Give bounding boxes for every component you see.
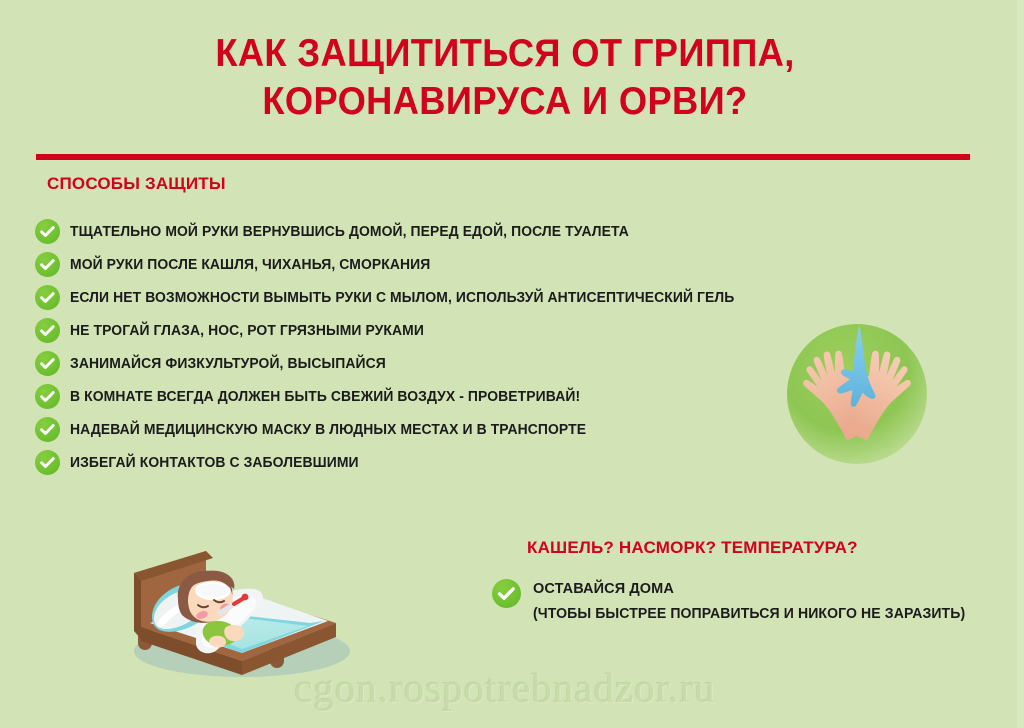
symptoms-section-heading: КАШЕЛЬ? НАСМОРК? ТЕМПЕРАТУРА? xyxy=(527,538,858,558)
list-item-label: НАДЕВАЙ МЕДИЦИНСКУЮ МАСКУ В ЛЮДНЫХ МЕСТА… xyxy=(70,422,586,438)
check-circle-icon xyxy=(35,417,60,442)
washing-hands-illustration xyxy=(785,318,929,470)
poster-canvas: КАК ЗАЩИТИТЬСЯ ОТ ГРИППА, КОРОНАВИРУСА И… xyxy=(0,0,1024,728)
list-item: ЗАНИМАЙСЯ ФИЗКУЛЬТУРОЙ, ВЫСЫПАЙСЯ xyxy=(35,347,795,380)
page-title: КАК ЗАЩИТИТЬСЯ ОТ ГРИППА, КОРОНАВИРУСА И… xyxy=(0,30,1010,126)
list-item: НЕ ТРОГАЙ ГЛАЗА, НОС, РОТ ГРЯЗНЫМИ РУКАМ… xyxy=(35,314,795,347)
list-item: В КОМНАТЕ ВСЕГДА ДОЛЖЕН БЫТЬ СВЕЖИЙ ВОЗД… xyxy=(35,380,795,413)
check-circle-icon xyxy=(35,318,60,343)
list-item-label: ЕСЛИ НЕТ ВОЗМОЖНОСТИ ВЫМЫТЬ РУКИ С МЫЛОМ… xyxy=(70,290,734,306)
list-item-label: МОЙ РУКИ ПОСЛЕ КАШЛЯ, ЧИХАНЬЯ, СМОРКАНИЯ xyxy=(70,257,430,273)
check-circle-icon xyxy=(35,252,60,277)
list-item: МОЙ РУКИ ПОСЛЕ КАШЛЯ, ЧИХАНЬЯ, СМОРКАНИЯ xyxy=(35,248,795,281)
list-item-label: ИЗБЕГАЙ КОНТАКТОВ С ЗАБОЛЕВШИМИ xyxy=(70,455,359,471)
sick-person-in-bed-illustration xyxy=(92,527,382,682)
list-item-label: В КОМНАТЕ ВСЕГДА ДОЛЖЕН БЫТЬ СВЕЖИЙ ВОЗД… xyxy=(70,389,580,405)
check-circle-icon xyxy=(35,450,60,475)
check-circle-icon xyxy=(35,384,60,409)
check-circle-icon xyxy=(35,351,60,376)
protection-list: ТЩАТЕЛЬНО МОЙ РУКИ ВЕРНУВШИСЬ ДОМОЙ, ПЕР… xyxy=(35,215,795,479)
list-item: НАДЕВАЙ МЕДИЦИНСКУЮ МАСКУ В ЛЮДНЫХ МЕСТА… xyxy=(35,413,795,446)
page-title-line-2: КОРОНАВИРУСА И ОРВИ? xyxy=(35,78,974,126)
stay-home-text: ОСТАВАЙСЯ ДОМА (ЧТОБЫ БЫСТРЕЕ ПОПРАВИТЬС… xyxy=(533,577,979,627)
list-item: ТЩАТЕЛЬНО МОЙ РУКИ ВЕРНУВШИСЬ ДОМОЙ, ПЕР… xyxy=(35,215,795,248)
list-item-label: ЗАНИМАЙСЯ ФИЗКУЛЬТУРОЙ, ВЫСЫПАЙСЯ xyxy=(70,356,386,372)
check-circle-icon xyxy=(35,219,60,244)
stay-home-primary-line: ОСТАВАЙСЯ ДОМА xyxy=(533,581,674,597)
protection-section-heading: СПОСОБЫ ЗАЩИТЫ xyxy=(47,174,226,194)
check-circle-icon xyxy=(492,579,521,608)
page-edge-strip xyxy=(1017,0,1024,728)
page-title-line-1: КАК ЗАЩИТИТЬСЯ ОТ ГРИППА, xyxy=(35,30,974,78)
list-item: ЕСЛИ НЕТ ВОЗМОЖНОСТИ ВЫМЫТЬ РУКИ С МЫЛОМ… xyxy=(35,281,795,314)
stay-home-secondary-line: (ЧТОБЫ БЫСТРЕЕ ПОПРАВИТЬСЯ И НИКОГО НЕ З… xyxy=(533,602,965,627)
list-item: ИЗБЕГАЙ КОНТАКТОВ С ЗАБОЛЕВШИМИ xyxy=(35,446,795,479)
check-circle-icon xyxy=(35,285,60,310)
title-divider-rule xyxy=(36,154,970,160)
list-item-label: НЕ ТРОГАЙ ГЛАЗА, НОС, РОТ ГРЯЗНЫМИ РУКАМ… xyxy=(70,323,424,339)
site-watermark: cgon.rospotrebnadzor.ru xyxy=(0,664,1010,712)
list-item-label: ТЩАТЕЛЬНО МОЙ РУКИ ВЕРНУВШИСЬ ДОМОЙ, ПЕР… xyxy=(70,224,629,240)
stay-home-callout: ОСТАВАЙСЯ ДОМА (ЧТОБЫ БЫСТРЕЕ ПОПРАВИТЬС… xyxy=(492,577,979,627)
